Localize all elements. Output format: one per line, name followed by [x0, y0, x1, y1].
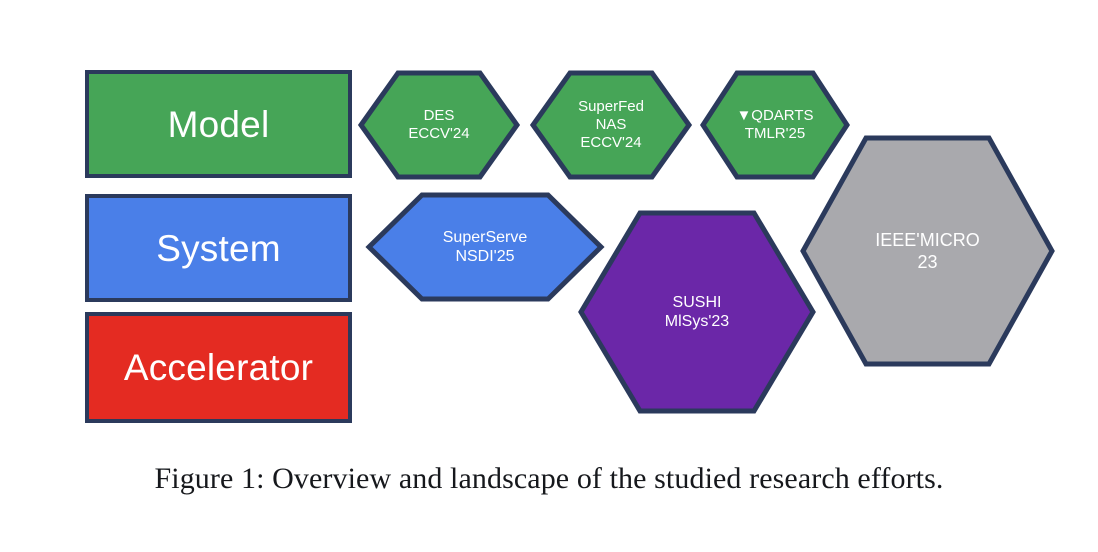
category-box-system[interactable]: System	[85, 194, 352, 302]
node-superfed-nas[interactable]: SuperFed NAS ECCV'24	[530, 70, 692, 180]
category-label-system: System	[156, 230, 281, 267]
figure-canvas: Model System Accelerator DES ECCV'24 Sup…	[0, 0, 1098, 552]
hexagon-shape-sushi	[578, 210, 816, 414]
hexagon-shape-superfed-nas	[530, 70, 692, 180]
category-label-accelerator: Accelerator	[124, 349, 313, 386]
node-superserve[interactable]: SuperServe NSDI'25	[366, 192, 604, 302]
node-qdarts[interactable]: ▼QDARTS TMLR'25	[700, 70, 850, 180]
figure-caption: Figure 1: Overview and landscape of the …	[0, 462, 1098, 496]
category-label-model: Model	[168, 106, 270, 143]
node-des[interactable]: DES ECCV'24	[358, 70, 520, 180]
hexagon-shape-qdarts	[700, 70, 850, 180]
hexagon-shape-des	[358, 70, 520, 180]
category-box-accelerator[interactable]: Accelerator	[85, 312, 352, 423]
category-box-model[interactable]: Model	[85, 70, 352, 178]
node-sushi[interactable]: SUSHI MlSys'23	[578, 210, 816, 414]
hexagon-shape-superserve	[366, 192, 604, 302]
